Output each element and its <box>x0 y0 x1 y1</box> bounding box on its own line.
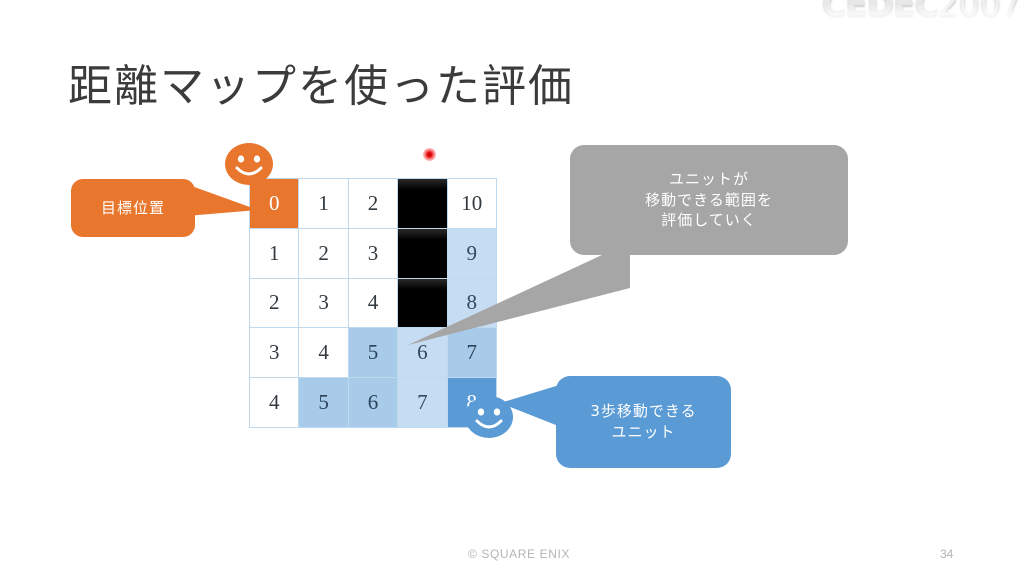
grid-cell-r2-c1[interactable]: 3 <box>299 279 347 328</box>
page-title: 距離マップを使った評価 <box>68 50 574 114</box>
target-callout-tail <box>186 182 258 226</box>
grid-cell-r4-c0[interactable]: 4 <box>250 378 298 427</box>
unit-callout-line-1: 3歩移動できる <box>590 401 696 422</box>
unit-callout-text: 3歩移動できる ユニット <box>590 401 696 442</box>
cedec-logo-year: 2007 <box>938 0 1022 23</box>
unit-callout-line-2: ユニット <box>590 422 696 443</box>
unit-callout[interactable]: 3歩移動できる ユニット <box>556 376 731 468</box>
footer-page-number: 34 <box>940 547 953 561</box>
grid-cell-r4-c3[interactable]: 7 <box>398 378 446 427</box>
grid-cell-r3-c2[interactable]: 5 <box>349 328 397 377</box>
grid-cell-r3-c1[interactable]: 4 <box>299 328 347 377</box>
grid-cell-r1-c2[interactable]: 3 <box>349 229 397 278</box>
range-callout-line-1: ユニットが <box>645 169 773 190</box>
range-callout[interactable]: ユニットが 移動できる範囲を 評価していく <box>570 145 848 255</box>
target-callout-label: 目標位置 <box>101 198 165 219</box>
grid-cell-r0-c2[interactable]: 2 <box>349 179 397 228</box>
grid-cell-r4-c1[interactable]: 5 <box>299 378 347 427</box>
range-callout-tail <box>400 240 630 350</box>
grid-cell-r2-c2[interactable]: 4 <box>349 279 397 328</box>
grid-cell-r3-c0[interactable]: 3 <box>250 328 298 377</box>
laser-pointer-dot-icon <box>423 148 436 161</box>
footer-copyright: © SQUARE ENIX <box>468 547 570 561</box>
target-callout[interactable]: 目標位置 <box>71 179 195 237</box>
cedec-logo: CEDEC2007 <box>822 0 1030 26</box>
cedec-logo-text: CEDEC2007 <box>822 0 1022 23</box>
slide-canvas: CEDEC2007 距離マップを使った評価 012101239234834567… <box>0 0 1036 582</box>
range-callout-line-2: 移動できる範囲を <box>645 190 773 211</box>
unit-smiley-icon <box>464 394 514 440</box>
grid-cell-r0-c1[interactable]: 1 <box>299 179 347 228</box>
target-smiley-icon <box>224 142 274 188</box>
grid-cell-r1-c0[interactable]: 1 <box>250 229 298 278</box>
grid-cell-r4-c2[interactable]: 6 <box>349 378 397 427</box>
grid-cell-r0-c4[interactable]: 10 <box>448 179 496 228</box>
grid-cell-r0-c3[interactable] <box>398 179 446 228</box>
grid-cell-r1-c1[interactable]: 2 <box>299 229 347 278</box>
range-callout-text: ユニットが 移動できる範囲を 評価していく <box>645 169 773 231</box>
grid-cell-r2-c0[interactable]: 2 <box>250 279 298 328</box>
cedec-logo-brand: CEDEC <box>822 0 938 23</box>
range-callout-line-3: 評価していく <box>645 210 773 231</box>
